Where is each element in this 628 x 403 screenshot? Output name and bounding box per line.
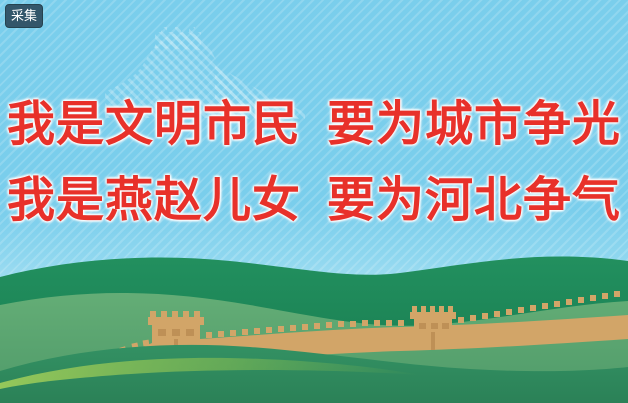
sky-background [0,0,628,403]
civic-slogan-banner: 我是文明市民要为城市争光 我是燕赵儿女要为河北争气 [0,0,628,403]
capture-button[interactable]: 采集 [5,4,43,28]
